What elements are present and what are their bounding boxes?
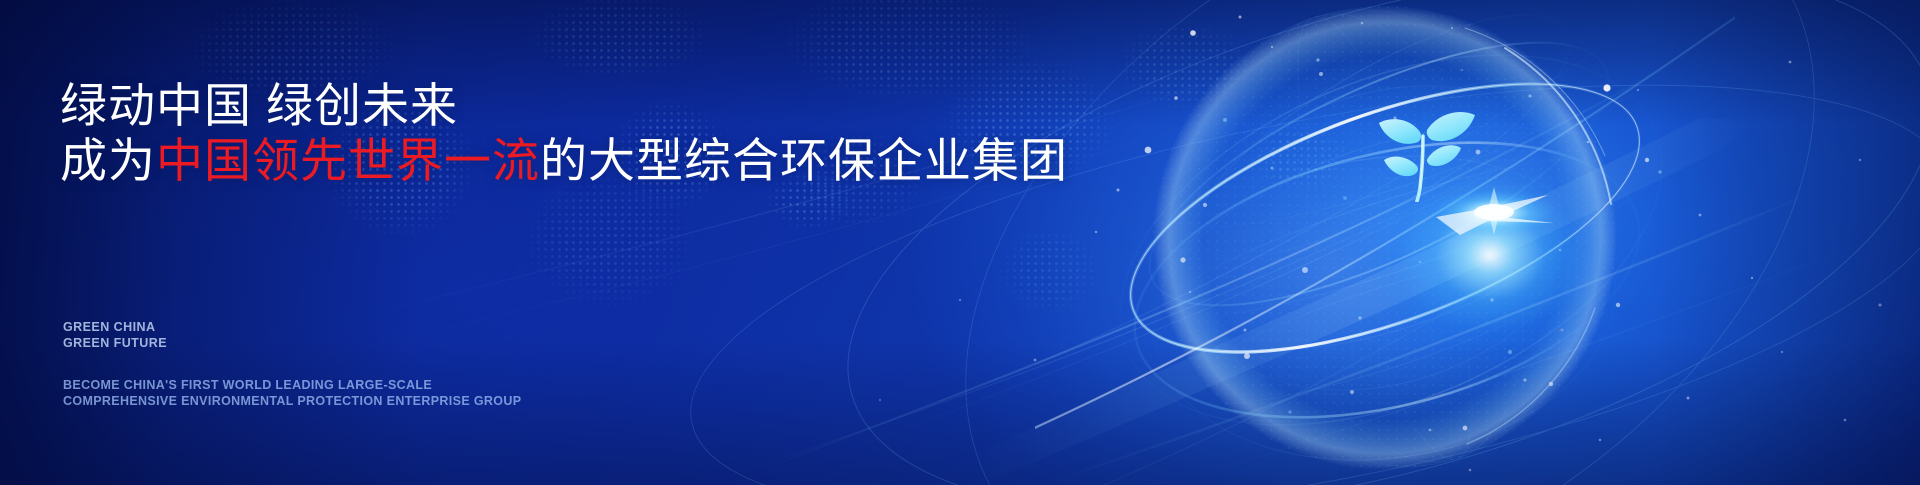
- headline-block: 绿动中国 绿创未来 成为中国领先世界一流的大型综合环保企业集团: [60, 78, 1068, 188]
- headline-line-2-accent: 中国领先世界一流: [156, 134, 540, 187]
- hero-banner: 绿动中国 绿创未来 成为中国领先世界一流的大型综合环保企业集团 GREEN CH…: [0, 0, 1920, 485]
- tagline-english: GREEN CHINA GREEN FUTURE: [63, 320, 167, 351]
- headline-line-2: 成为中国领先世界一流的大型综合环保企业集团: [60, 133, 1068, 188]
- headline-line-1-text: 绿动中国 绿创未来: [60, 79, 458, 132]
- light-burst-icon: [1430, 183, 1558, 239]
- tagline-line-2: GREEN FUTURE: [63, 336, 167, 352]
- subtagline-english: BECOME CHINA'S FIRST WORLD LEADING LARGE…: [63, 378, 521, 409]
- tagline-line-1: GREEN CHINA: [63, 320, 167, 336]
- wireframe-globe-icon: [1035, 0, 1735, 485]
- banner-content: 绿动中国 绿创未来 成为中国领先世界一流的大型综合环保企业集团 GREEN CH…: [60, 0, 1060, 485]
- subtagline-line-1: BECOME CHINA'S FIRST WORLD LEADING LARGE…: [63, 378, 521, 394]
- subtagline-line-2: COMPREHENSIVE ENVIRONMENTAL PROTECTION E…: [63, 394, 521, 410]
- headline-line-2-prefix: 成为: [60, 134, 156, 187]
- headline-line-2-suffix: 的大型综合环保企业集团: [540, 134, 1068, 187]
- headline-line-1: 绿动中国 绿创未来: [60, 78, 1068, 133]
